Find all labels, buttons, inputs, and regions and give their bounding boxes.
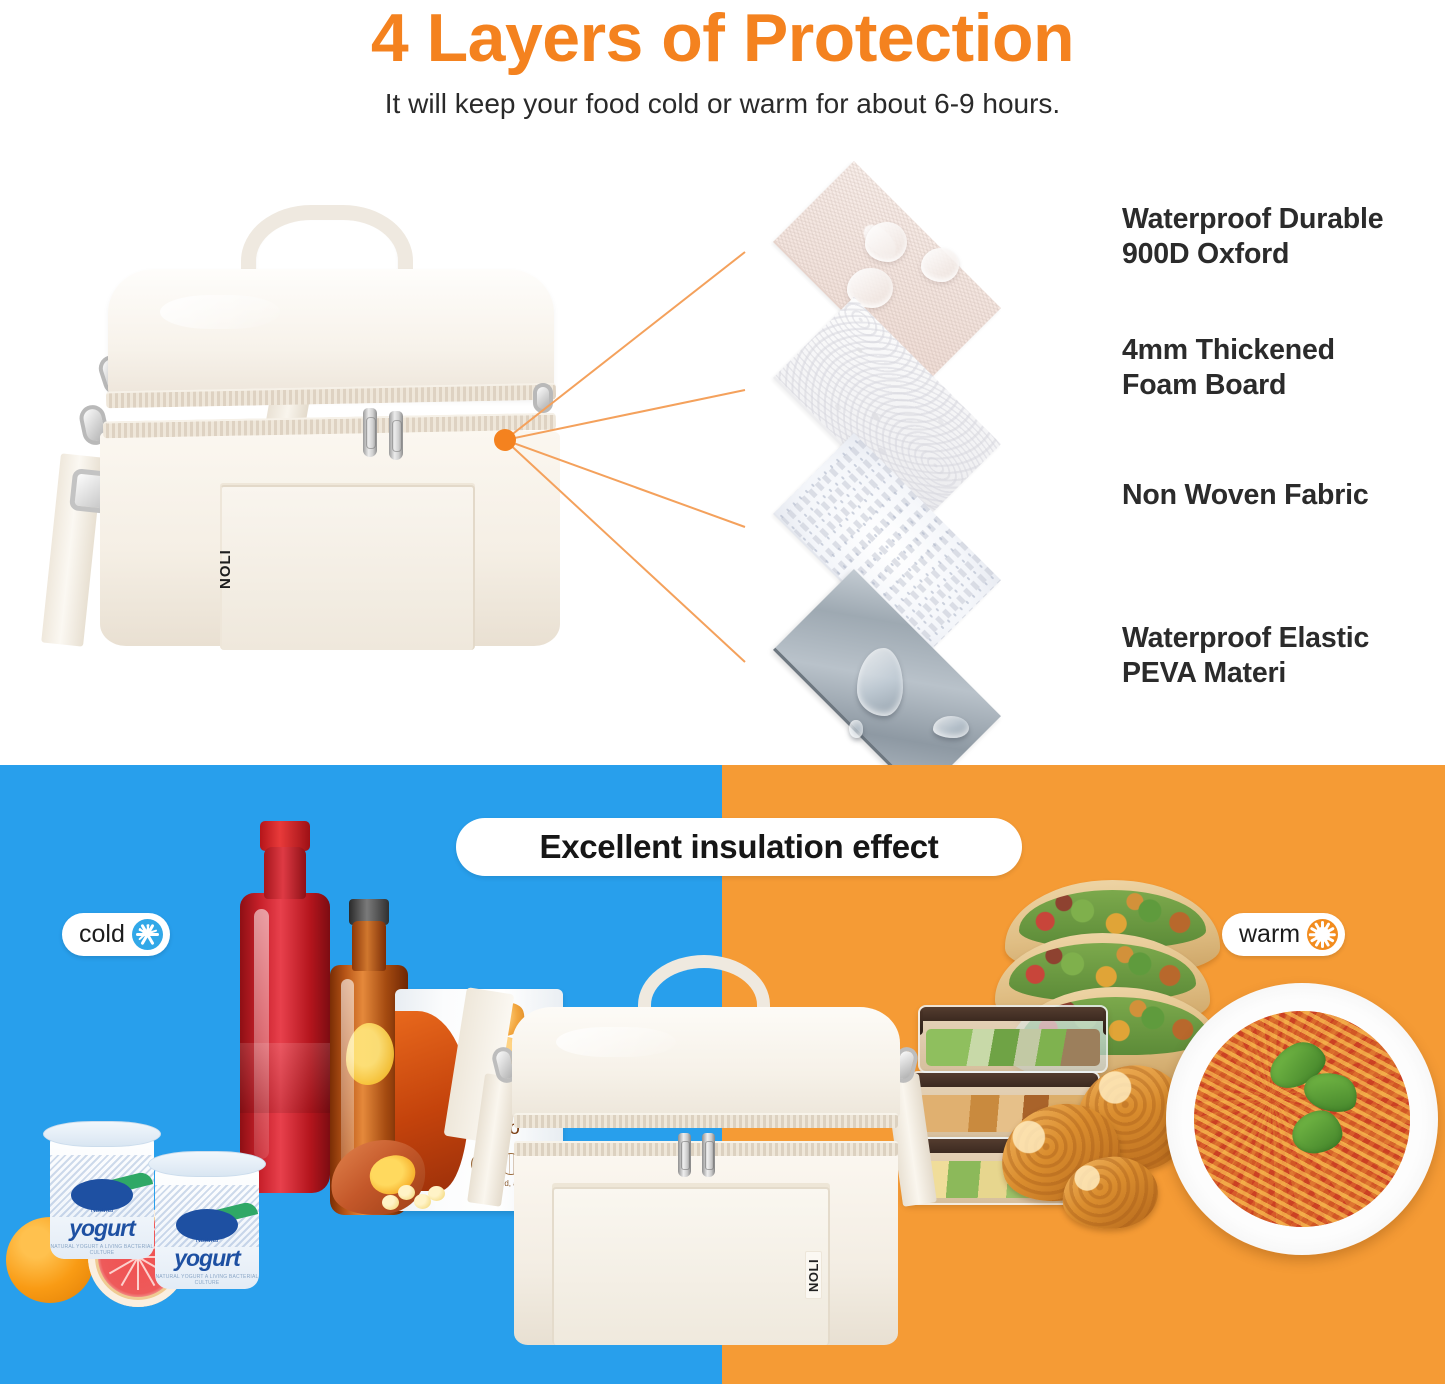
zipper-pull-1 xyxy=(363,408,377,457)
yogurt-label: yogurt xyxy=(155,1245,259,1272)
glass-meal-container xyxy=(918,1005,1108,1073)
bottle-label xyxy=(240,1043,330,1113)
front-pocket xyxy=(220,485,475,650)
page-subtitle: It will keep your food cold or warm for … xyxy=(0,88,1445,120)
bottle-neck xyxy=(352,921,386,971)
insulation-banner: Excellent insulation effect xyxy=(456,818,1022,876)
layer-label-non-woven: Non Woven Fabric xyxy=(1122,478,1442,513)
container-clip-right xyxy=(1103,1009,1108,1035)
container-contents xyxy=(926,1029,1100,1066)
page-title: 4 Layers of Protection xyxy=(0,4,1445,72)
layers-section: 4 Layers of Protection It will keep your… xyxy=(0,0,1445,765)
insulation-banner-text: Excellent insulation effect xyxy=(539,828,938,866)
yogurt-fine-print: NATURAL YOGURT A LIVING BACTERIAL CULTUR… xyxy=(50,1244,154,1256)
bag-lid xyxy=(108,269,554,399)
cold-badge-label: cold xyxy=(79,920,125,949)
water-droplet-icon xyxy=(865,222,907,262)
zipper-pull-2 xyxy=(389,411,403,460)
warm-badge-label: warm xyxy=(1239,920,1300,949)
product-bag-illustration: NOLI xyxy=(45,205,620,665)
strap-d-ring-right xyxy=(533,383,553,413)
yogurt-sub-label: Natural xyxy=(50,1207,154,1214)
layer-label-oxford: Waterproof Durable 900D Oxford xyxy=(1122,202,1442,272)
spaghetti-plate xyxy=(1166,983,1438,1255)
spaghetti xyxy=(1194,1011,1410,1227)
yogurt-label: yogurt xyxy=(50,1215,154,1242)
yogurt-tub: Natural yogurt NATURAL YOGURT A LIVING B… xyxy=(155,1165,259,1289)
bottle-highlight xyxy=(254,909,269,1159)
yogurt-lid xyxy=(148,1151,266,1177)
corn-bits xyxy=(382,1185,446,1219)
brand-tag: NOLI xyxy=(217,537,233,589)
zipper-pull-1 xyxy=(678,1133,691,1177)
yogurt-lid xyxy=(43,1121,161,1147)
cold-badge: cold xyxy=(62,913,170,956)
water-droplet-icon xyxy=(849,720,863,738)
yogurt-tub: Natural yogurt NATURAL YOGURT A LIVING B… xyxy=(50,1135,154,1259)
peva-sheet-swatch xyxy=(737,588,1037,778)
layer-label-peva: Waterproof Elastic PEVA Materi xyxy=(1122,621,1442,691)
bag-lid xyxy=(512,1007,900,1119)
sun-icon xyxy=(1307,919,1338,950)
yogurt-sub-label: Natural xyxy=(155,1237,259,1244)
water-droplet-icon xyxy=(921,248,959,282)
zipper-row-upper xyxy=(514,1113,898,1128)
zipper-pull-2 xyxy=(702,1133,715,1177)
bottle-neck xyxy=(264,847,306,899)
layer-label-foam: 4mm Thickened Foam Board xyxy=(1122,333,1442,403)
basil-leaf xyxy=(1289,1108,1344,1157)
yogurt-fine-print: NATURAL YOGURT A LIVING BACTERIAL CULTUR… xyxy=(155,1274,259,1286)
brand-tag: NOLI xyxy=(805,1251,822,1299)
water-droplet-icon xyxy=(933,716,969,738)
warm-badge: warm xyxy=(1222,913,1345,956)
insulation-effect-section: Excellent insulation effect cold warm xyxy=(0,765,1445,1384)
snowflake-icon xyxy=(132,919,163,950)
cola-bottle xyxy=(240,893,330,1193)
front-pocket xyxy=(552,1187,830,1345)
container-lid xyxy=(918,1005,1108,1021)
product-bag-front: NOLI xyxy=(490,955,920,1355)
container-lid xyxy=(910,1071,1100,1087)
